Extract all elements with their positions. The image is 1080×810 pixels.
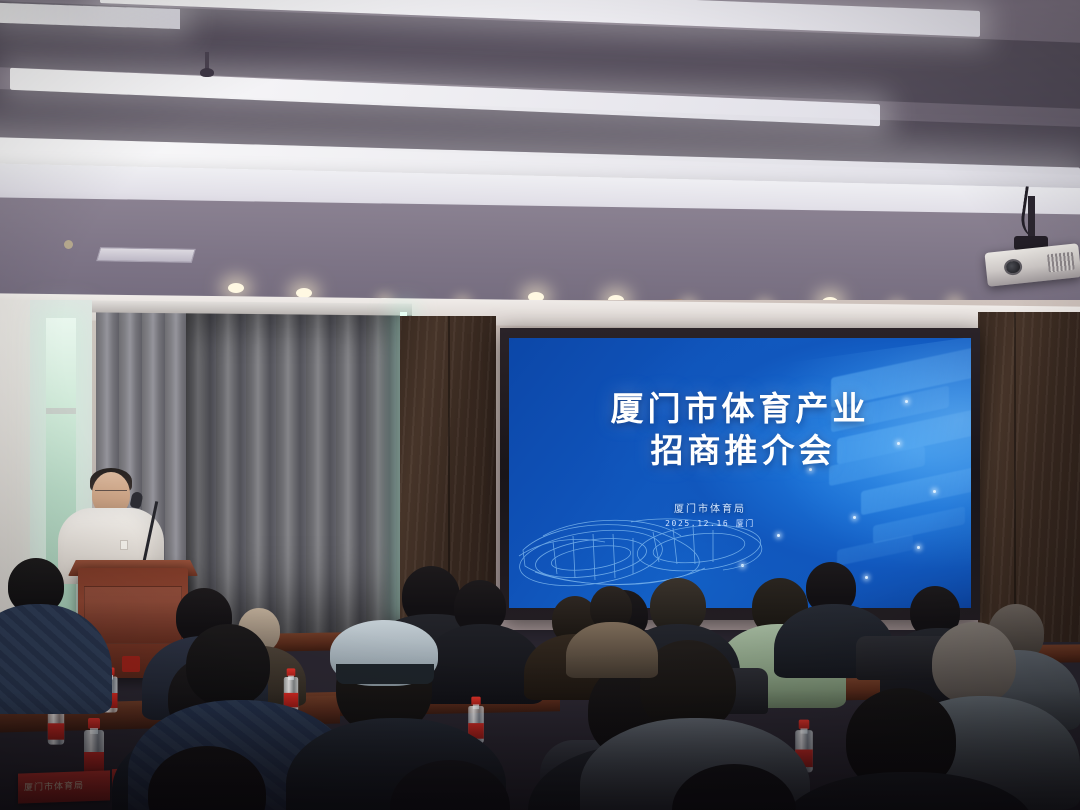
projector-lens [1003, 258, 1023, 276]
audience-head [932, 622, 1016, 704]
desk-name-card: 厦门市体育局 [18, 770, 110, 803]
water-bottle [84, 718, 104, 778]
slide-title-line-2: 招商推介会 [509, 430, 971, 472]
conference-hall-photo: 厦门市体育产业 招商推介会 厦门市体育局 2025.12.16 厦门 [0, 0, 1080, 810]
audience-head [186, 624, 270, 706]
cap-band [336, 664, 434, 684]
wood-seam [1014, 312, 1016, 642]
sparkle-icon [933, 490, 936, 493]
sparkle-icon [917, 546, 920, 549]
sparkle-icon [777, 534, 780, 537]
slide-organizer: 厦门市体育局 [509, 500, 971, 515]
podium-emblem [122, 656, 140, 672]
projector-vent [1047, 252, 1075, 273]
speaker-badge [120, 540, 128, 550]
bottle-label [84, 752, 104, 772]
wood-grain [978, 312, 1080, 642]
downlight [228, 283, 244, 293]
presentation-screen[interactable]: 厦门市体育产业 招商推介会 厦门市体育局 2025.12.16 厦门 [500, 328, 980, 620]
slide-surface: 厦门市体育产业 招商推介会 厦门市体育局 2025.12.16 厦门 [509, 338, 971, 608]
sparkle-icon [865, 576, 868, 579]
ceiling-fixture-stem [205, 52, 209, 70]
air-vent [96, 247, 196, 263]
slide-title-line-1: 厦门市体育产业 [509, 388, 971, 430]
window-mullion [46, 408, 76, 414]
slide-date-location: 2025.12.16 厦门 [509, 518, 971, 529]
wood-wall-panel [978, 312, 1080, 642]
slide-title: 厦门市体育产业 招商推介会 [509, 388, 971, 472]
bottle-label [48, 723, 64, 739]
speaker-glasses [95, 490, 127, 497]
sprinkler-head [64, 240, 73, 249]
audience-shoulders [566, 622, 658, 678]
desk-name-card-text: 厦门市体育局 [24, 778, 106, 794]
